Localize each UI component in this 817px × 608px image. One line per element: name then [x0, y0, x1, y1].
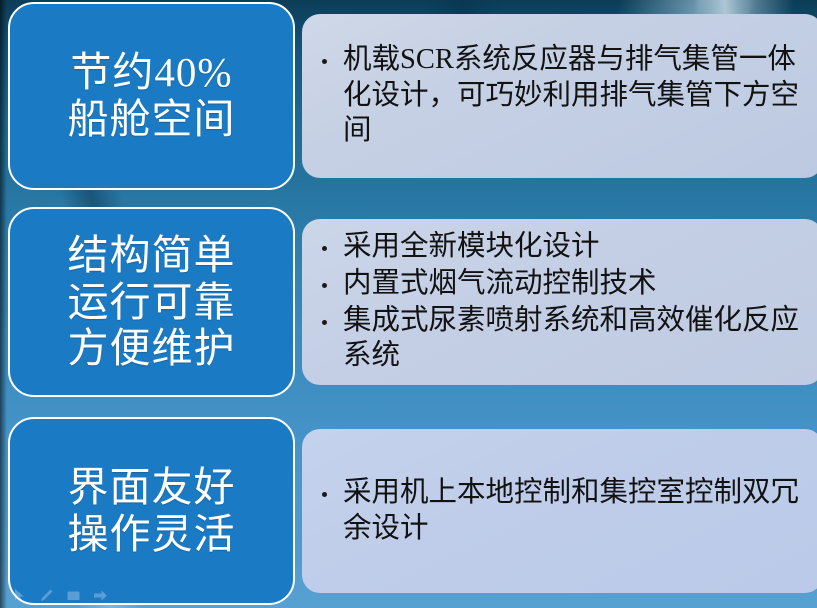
list-item: 集成式尿素喷射系统和高效催化反应系统: [316, 303, 807, 375]
list-item: 采用全新模块化设计: [316, 229, 807, 265]
feature-label-line: 运行可靠: [68, 279, 236, 326]
list-item: 采用机上本地控制和集控室控制双冗余设计: [316, 475, 807, 547]
feature-content-panel: 采用全新模块化设计 内置式烟气流动控制技术 集成式尿素喷射系统和高效催化反应系统: [302, 219, 817, 385]
next-slide-arrow-icon[interactable]: [93, 588, 108, 603]
slide-menu-icon[interactable]: [66, 588, 81, 603]
feature-row: 结构简单 运行可靠 方便维护 采用全新模块化设计 内置式烟气流动控制技术 集成式…: [0, 207, 817, 397]
bullet-list: 采用机上本地控制和集控室控制双冗余设计: [316, 475, 807, 548]
feature-label-line: 方便维护: [68, 325, 236, 372]
presentation-controls[interactable]: [12, 588, 108, 603]
feature-label-box: 节约40% 船舱空间: [8, 2, 295, 190]
feature-label-line: 节约40%: [68, 49, 236, 96]
bullet-list: 采用全新模块化设计 内置式烟气流动控制技术 集成式尿素喷射系统和高效催化反应系统: [316, 229, 807, 376]
presentation-slide: 节约40% 船舱空间 机载SCR系统反应器与排气集管一体化设计，可巧妙利用排气集…: [0, 0, 817, 608]
feature-row: 节约40% 船舱空间 机载SCR系统反应器与排气集管一体化设计，可巧妙利用排气集…: [0, 2, 817, 190]
pen-icon[interactable]: [39, 588, 54, 603]
bullet-list: 机载SCR系统反应器与排气集管一体化设计，可巧妙利用排气集管下方空间: [316, 42, 807, 151]
feature-label-line: 结构简单: [68, 232, 236, 279]
feature-label-box: 结构简单 运行可靠 方便维护: [8, 207, 295, 397]
feature-content-panel: 采用机上本地控制和集控室控制双冗余设计: [302, 429, 817, 593]
pointer-icon[interactable]: [12, 588, 27, 603]
feature-label-line: 船舱空间: [68, 96, 236, 143]
feature-label-box: 界面友好 操作灵活: [8, 417, 295, 605]
feature-content-panel: 机载SCR系统反应器与排气集管一体化设计，可巧妙利用排气集管下方空间: [302, 14, 817, 178]
feature-label-line: 界面友好: [68, 464, 236, 511]
feature-row: 界面友好 操作灵活 采用机上本地控制和集控室控制双冗余设计: [0, 417, 817, 605]
list-item: 机载SCR系统反应器与排气集管一体化设计，可巧妙利用排气集管下方空间: [316, 42, 807, 150]
feature-label-line: 操作灵活: [68, 511, 236, 558]
list-item: 内置式烟气流动控制技术: [316, 266, 807, 302]
